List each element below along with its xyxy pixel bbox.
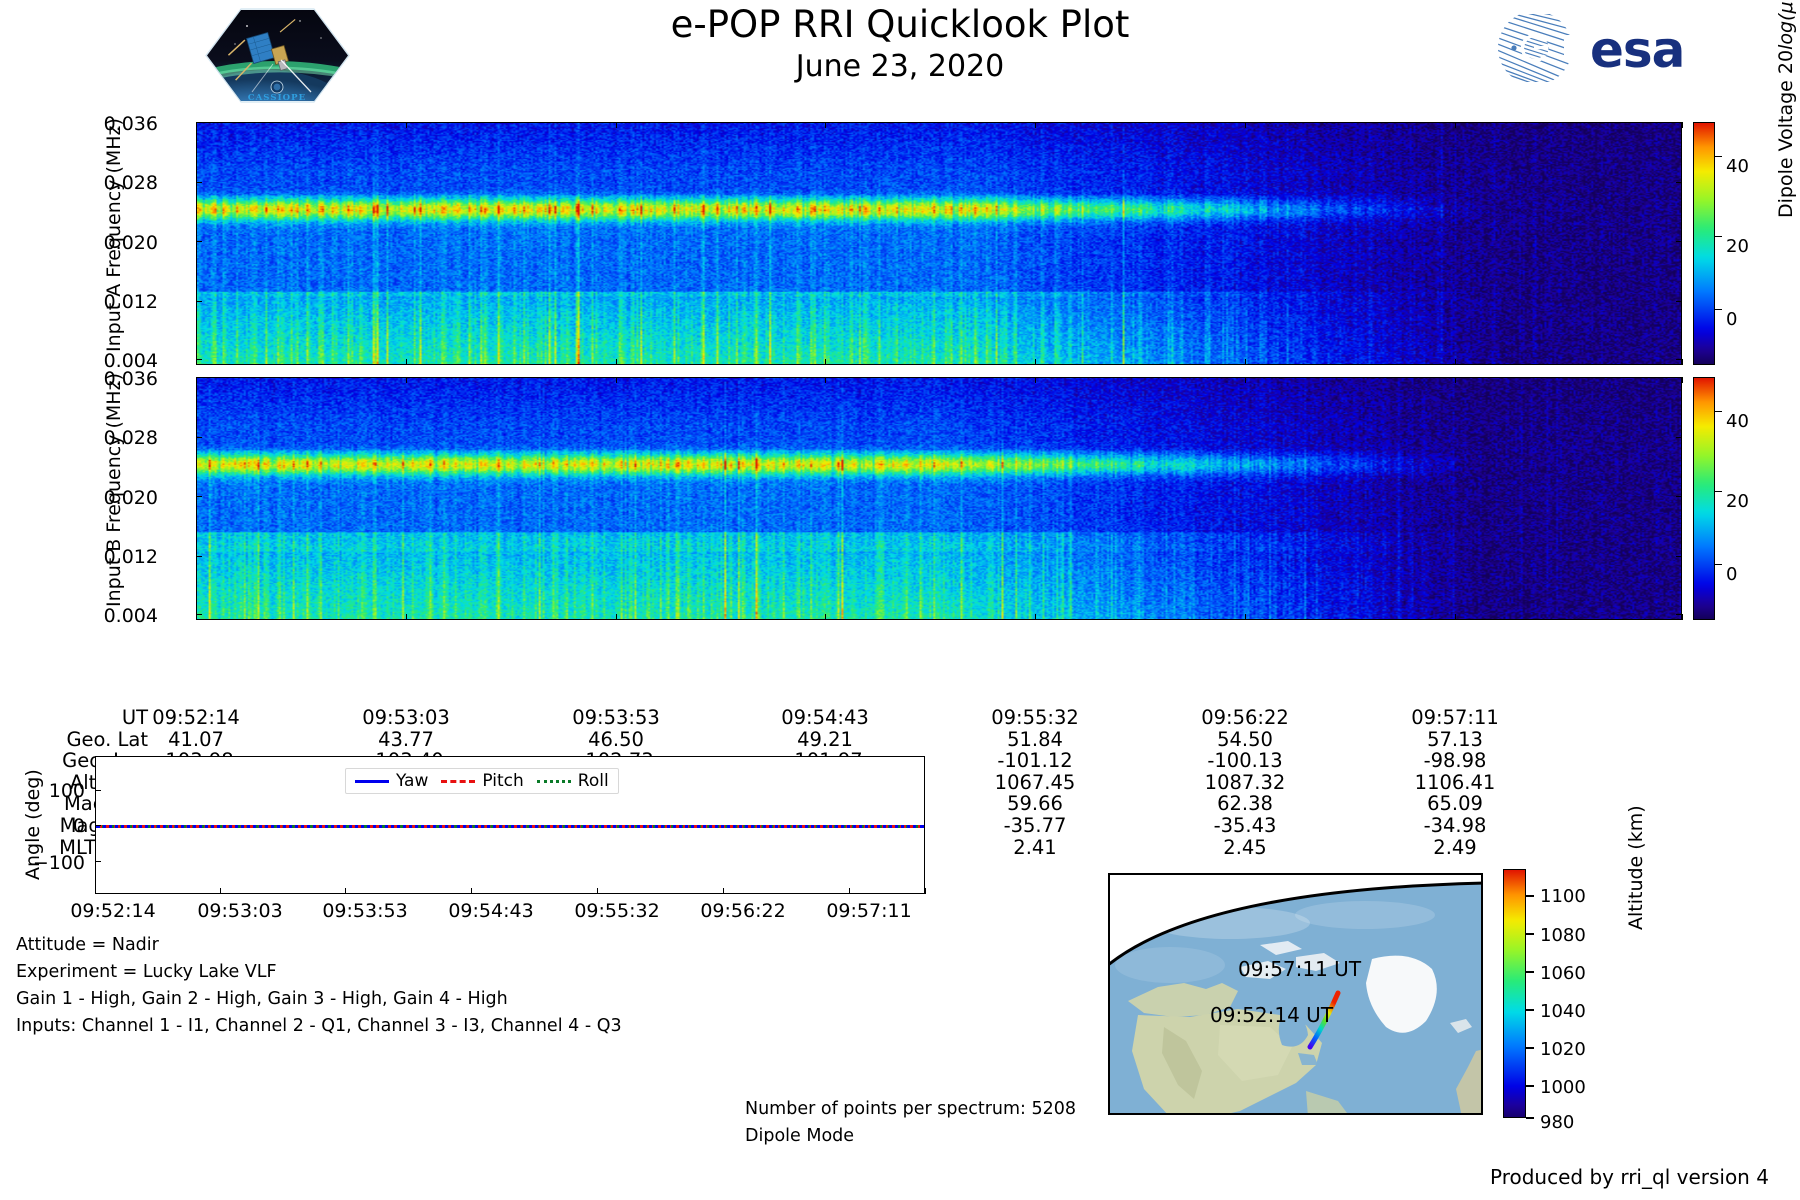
cbar-b-tick-0: 0 [1726, 564, 1737, 585]
ephemeris-cell: -98.98 [1380, 749, 1530, 772]
alt-tick-1060: 1060 [1540, 963, 1586, 984]
alt-tick-1080: 1080 [1540, 925, 1586, 946]
ephemeris-cell: 2.49 [1380, 836, 1530, 859]
axis-tickmark [196, 496, 202, 497]
ground-track-map: 09:57:11 UT 09:52:14 UT [1108, 873, 1483, 1115]
axis-tickmark [196, 241, 202, 242]
spec-a-ytick-1: 0.028 [0, 172, 158, 194]
cbar-a-tick-20: 20 [1726, 236, 1749, 257]
axis-tickmark [1676, 359, 1682, 360]
axis-tickmark [1676, 301, 1682, 302]
axis-tickmark [95, 825, 101, 826]
axis-tickmark [220, 888, 221, 894]
axis-tickmark [1455, 377, 1456, 383]
colorbar-tickmark [1715, 236, 1722, 237]
attitude-xtick-6: 09:57:11 [794, 900, 944, 922]
cbar-label-prefix: Dipole Voltage 20 [1775, 50, 1797, 218]
axis-tickmark [825, 614, 826, 620]
axis-tickmark [1455, 614, 1456, 620]
axis-tickmark [1676, 556, 1682, 557]
colorbar-tickmark [1526, 1085, 1534, 1087]
colorbar-tickmark [1526, 933, 1534, 935]
axis-tickmark [95, 888, 96, 894]
axis-tickmark [406, 122, 407, 128]
page-header: CASSIOPE e-POP RRI Quicklook Plot June 2… [0, 0, 1800, 105]
legend-label-roll: Roll [578, 771, 609, 791]
ephemeris-cell: -34.98 [1380, 814, 1530, 837]
colorbar-tickmark [1526, 1047, 1534, 1049]
axis-tickmark [616, 614, 617, 620]
spec-b-ytick-1: 0.028 [0, 427, 158, 449]
colorbar-tickmark [1526, 1009, 1534, 1011]
ephemeris-cell: 49.21 [750, 728, 900, 751]
axis-tickmark [196, 377, 202, 378]
ephemeris-cell: 09:56:22 [1170, 706, 1320, 729]
ephemeris-cell: 57.13 [1380, 728, 1530, 751]
ephemeris-cell: 09:52:14 [121, 706, 271, 729]
cbar-b-tick-40: 40 [1726, 411, 1749, 432]
axis-tickmark [1676, 377, 1682, 378]
axis-tickmark [825, 122, 826, 128]
note-experiment: Experiment = Lucky Lake VLF [16, 962, 277, 982]
attitude-ytick-m100: −100 [0, 852, 85, 874]
map-label-track-end: 09:57:11 UT [1238, 957, 1361, 981]
axis-tickmark [196, 301, 202, 302]
attitude-ytick-0: 0 [0, 815, 85, 837]
note-points-per-spectrum: Number of points per spectrum: 5208 [745, 1099, 1076, 1119]
esa-wordmark: esa [1590, 21, 1684, 79]
axis-tickmark [196, 437, 202, 438]
axis-tickmark [1035, 614, 1036, 620]
ephemeris-cell: 09:53:53 [541, 706, 691, 729]
ephemeris-cell: 2.45 [1170, 836, 1320, 859]
axis-tickmark [825, 359, 826, 365]
axis-tickmark [196, 556, 202, 557]
spec-b-ytick-0: 0.036 [0, 368, 158, 390]
axis-tickmark [196, 614, 202, 615]
legend-swatch-pitch-icon [441, 780, 475, 783]
axis-tickmark [1035, 122, 1036, 128]
ephemeris-cell: 59.66 [960, 792, 1110, 815]
ephemeris-cell: 1087.32 [1170, 771, 1320, 794]
legend-item-yaw: Yaw [355, 771, 428, 791]
cassiope-mission-patch-icon: CASSIOPE [205, 8, 350, 103]
colorbar-voltage-label: Dipole Voltage 20log(μVBs) [1775, 0, 1800, 218]
map-svg [1110, 875, 1483, 1115]
axis-tickmark [1682, 359, 1683, 365]
ephemeris-cell: 09:55:32 [960, 706, 1110, 729]
axis-tickmark [1245, 377, 1246, 383]
axis-tickmark [196, 182, 202, 183]
page-title: e-POP RRI Quicklook Plot [400, 2, 1400, 48]
axis-tickmark [1676, 437, 1682, 438]
spectrogram-canvas [197, 123, 1681, 364]
spec-a-ytick-0: 0.036 [0, 113, 158, 135]
alt-tick-1100: 1100 [1540, 886, 1586, 907]
alt-tick-1020: 1020 [1540, 1039, 1586, 1060]
axis-tickmark [1676, 496, 1682, 497]
axis-tickmark [597, 888, 598, 894]
spectrogram-canvas [197, 378, 1681, 619]
ephemeris-cell: 62.38 [1170, 792, 1320, 815]
axis-tickmark [1035, 359, 1036, 365]
axis-tickmark [1682, 122, 1683, 128]
axis-tickmark [471, 888, 472, 894]
alt-tick-1040: 1040 [1540, 1001, 1586, 1022]
legend-label-pitch: Pitch [482, 771, 523, 791]
spec-b-ytick-2: 0.020 [0, 487, 158, 509]
axis-tickmark [95, 861, 101, 862]
colorbar-altitude-gradient [1503, 869, 1526, 1118]
ephemeris-cell: -100.13 [1170, 749, 1320, 772]
axis-tickmark [1676, 182, 1682, 183]
colorbar-tickmark [1715, 156, 1722, 157]
esa-logo-icon: esa [1490, 14, 1715, 82]
colorbar-tickmark [1715, 309, 1722, 310]
axis-tickmark [1455, 359, 1456, 365]
axis-tickmark [616, 377, 617, 383]
page-subtitle: June 23, 2020 [400, 48, 1400, 86]
attitude-legend: Yaw Pitch Roll [345, 768, 619, 794]
alt-tick-1000: 1000 [1540, 1077, 1586, 1098]
colorbar-tickmark [1715, 491, 1722, 492]
ephemeris-cell: 54.50 [1170, 728, 1320, 751]
axis-tickmark [616, 359, 617, 365]
ephemeris-cell: 51.84 [960, 728, 1110, 751]
axis-tickmark [723, 888, 724, 894]
cbar-label-log: log [1775, 21, 1797, 50]
attitude-ytick-100: 100 [0, 780, 85, 802]
axis-tickmark [825, 377, 826, 383]
colorbar-tickmark [1526, 1117, 1534, 1119]
colorbar-tickmark [1526, 895, 1534, 897]
legend-item-pitch: Pitch [441, 771, 523, 791]
cbar-a-tick-0: 0 [1726, 309, 1737, 330]
ephemeris-cell: -35.43 [1170, 814, 1320, 837]
ephemeris-cell: 1106.41 [1380, 771, 1530, 794]
axis-tickmark [1455, 122, 1456, 128]
colorbar-tickmark [1526, 971, 1534, 973]
axis-tickmark [1682, 614, 1683, 620]
note-gains: Gain 1 - High, Gain 2 - High, Gain 3 - H… [16, 989, 508, 1009]
ephemeris-row: UT09:52:1409:53:0309:53:5309:54:4309:55:… [0, 706, 1800, 728]
ephemeris-row: Geo. Lat41.0743.7746.5049.2151.8454.5057… [0, 728, 1800, 750]
ephemeris-cell: 2.41 [960, 836, 1110, 859]
axis-tickmark [1035, 377, 1036, 383]
axis-tickmark [196, 359, 202, 360]
axis-tickmark [1682, 377, 1683, 383]
footer-credit: Produced by rri_ql version 4 [1490, 1165, 1769, 1189]
legend-swatch-roll-icon [537, 780, 571, 783]
legend-swatch-yaw-icon [355, 780, 389, 783]
axis-tickmark [406, 614, 407, 620]
axis-tickmark [1245, 614, 1246, 620]
axis-tickmark [925, 888, 926, 894]
axis-tickmark [1676, 122, 1682, 123]
alt-tick-980: 980 [1540, 1112, 1574, 1133]
spec-b-ytick-4: 0.004 [0, 605, 158, 627]
ephemeris-cell: 09:53:03 [331, 706, 481, 729]
ephemeris-cell: 09:57:11 [1380, 706, 1530, 729]
cbar-label-unit-open: (μV [1775, 0, 1797, 21]
colorbar-voltage-a-gradient [1693, 122, 1715, 365]
axis-tickmark [406, 377, 407, 383]
axis-tickmark [95, 790, 101, 791]
spec-a-ytick-2: 0.020 [0, 232, 158, 254]
ephemeris-cell: 46.50 [541, 728, 691, 751]
ephemeris-cell: 41.07 [121, 728, 271, 751]
ephemeris-cell: 65.09 [1380, 792, 1530, 815]
axis-tickmark [849, 888, 850, 894]
axis-tickmark [1245, 122, 1246, 128]
note-dipole-mode: Dipole Mode [745, 1126, 854, 1146]
colorbar-voltage-b-gradient [1693, 377, 1715, 620]
ephemeris-cell: 09:54:43 [750, 706, 900, 729]
axis-tickmark [345, 888, 346, 894]
axis-tickmark [616, 122, 617, 128]
ephemeris-cell: 1067.45 [960, 771, 1110, 794]
spec-b-ytick-3: 0.012 [0, 546, 158, 568]
axis-tickmark [1676, 241, 1682, 242]
cbar-b-tick-20: 20 [1726, 491, 1749, 512]
title-block: e-POP RRI Quicklook Plot June 23, 2020 [400, 2, 1400, 86]
note-attitude: Attitude = Nadir [16, 935, 159, 955]
spec-a-ytick-3: 0.012 [0, 291, 158, 313]
axis-tickmark [1245, 359, 1246, 365]
spectrogram-a-image [196, 122, 1682, 365]
colorbar-altitude-label: Altitude (km) [1625, 805, 1647, 930]
attitude-trace-yaw [96, 825, 924, 828]
ephemeris-cell: -101.12 [960, 749, 1110, 772]
ephemeris-cell: -35.77 [960, 814, 1110, 837]
legend-label-yaw: Yaw [396, 771, 428, 791]
ephemeris-cell: 43.77 [331, 728, 481, 751]
axis-tickmark [196, 122, 202, 123]
legend-item-roll: Roll [537, 771, 609, 791]
spectrogram-b-image [196, 377, 1682, 620]
colorbar-tickmark [1715, 564, 1722, 565]
colorbar-tickmark [1715, 411, 1722, 412]
axis-tickmark [406, 359, 407, 365]
cbar-a-tick-40: 40 [1726, 156, 1749, 177]
map-label-track-start: 09:52:14 UT [1210, 1003, 1333, 1027]
axis-tickmark [1676, 614, 1682, 615]
note-inputs: Inputs: Channel 1 - I1, Channel 2 - Q1, … [16, 1016, 622, 1036]
